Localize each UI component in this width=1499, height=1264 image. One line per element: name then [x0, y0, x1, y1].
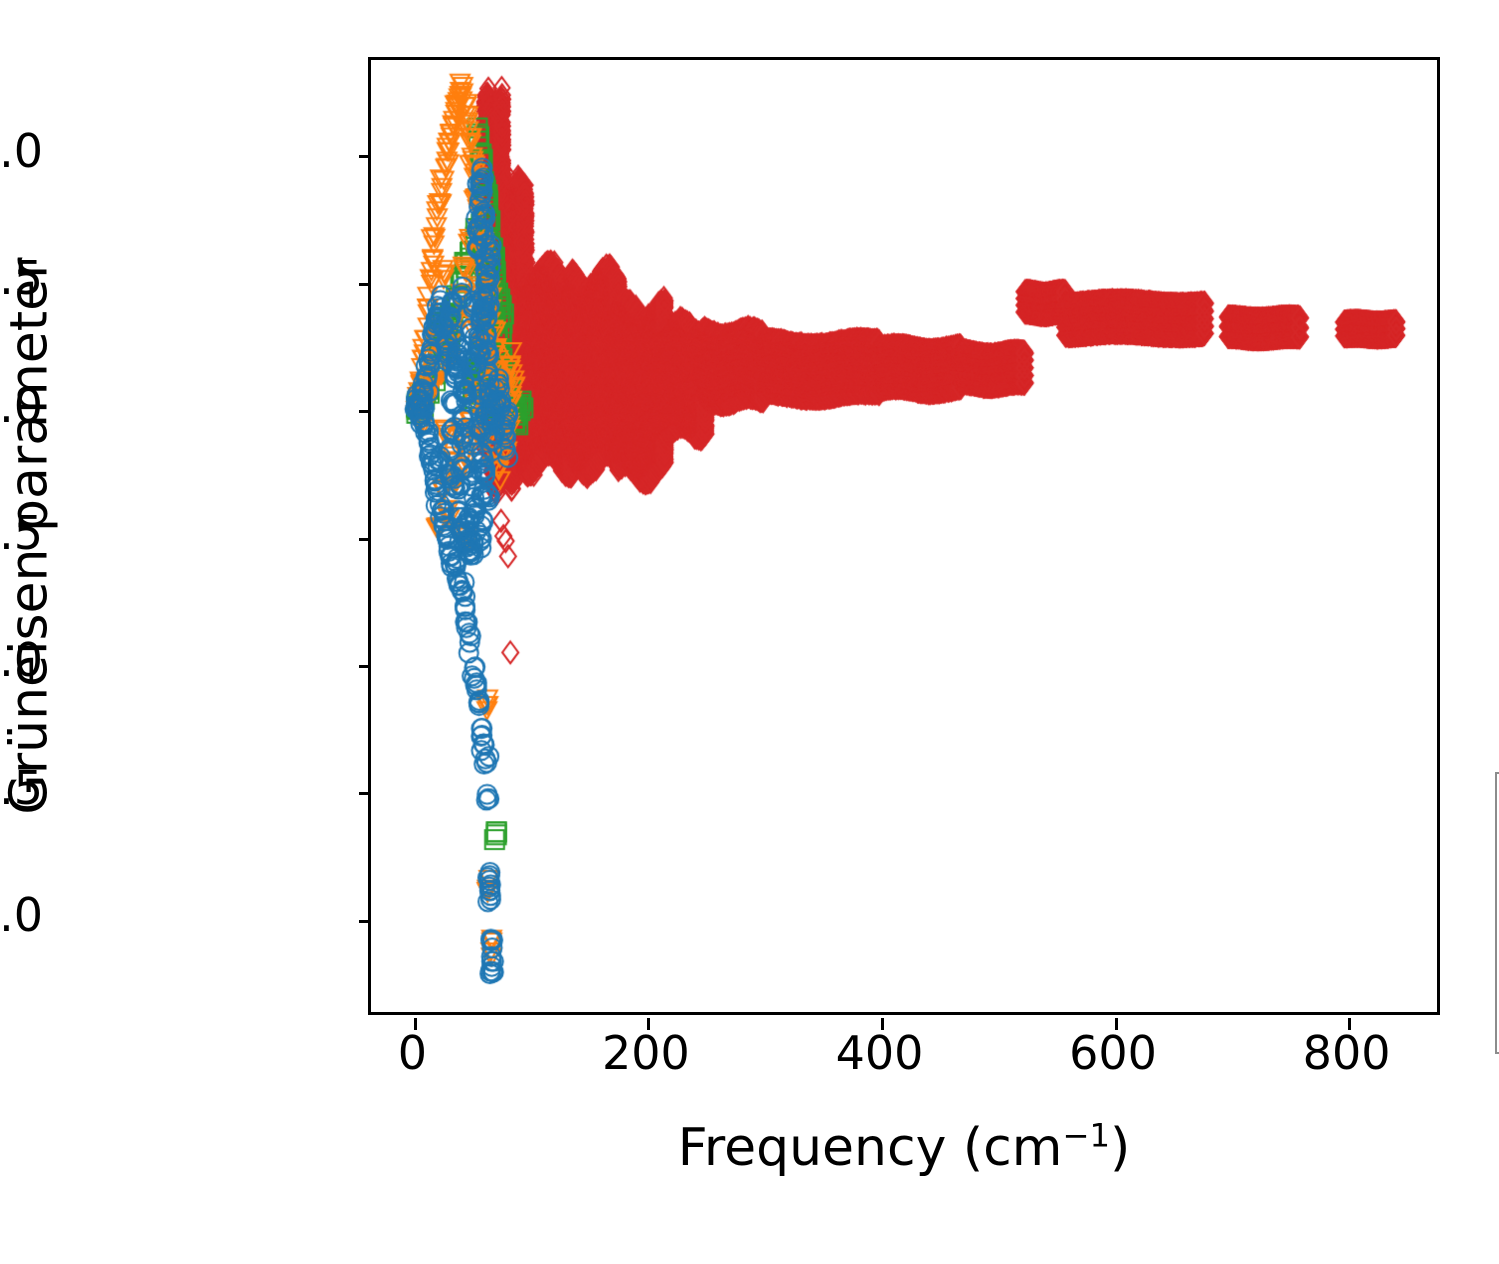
- y-tick-mark: [359, 283, 371, 286]
- x-axis-label-text: Frequency (cm: [678, 1118, 1063, 1178]
- plot-axes: TA(1) TA(2) LA Optical: [368, 57, 1440, 1015]
- y-tick-mark: [359, 538, 371, 541]
- y-tick-mark: [359, 155, 371, 158]
- x-tick-label: 400: [836, 1030, 924, 1076]
- y-axis-label: Grüneisen parameter: [1, 257, 58, 814]
- x-tick-mark: [881, 1018, 884, 1030]
- x-tick-label: 600: [1069, 1030, 1157, 1076]
- y-tick-label: 5.0: [0, 128, 43, 174]
- y-tick-mark: [359, 920, 371, 923]
- y-tick-label: −10.0: [0, 892, 43, 938]
- x-axis-label: Frequency (cm−1): [368, 1120, 1440, 1177]
- x-tick-label: 800: [1303, 1030, 1391, 1076]
- x-tick-label: 200: [602, 1030, 690, 1076]
- legend[interactable]: TA(1) TA(2) LA Optical: [1495, 772, 1499, 1054]
- x-axis-label-close: ): [1110, 1118, 1130, 1178]
- x-tick-mark: [1115, 1018, 1118, 1030]
- x-tick-mark: [647, 1018, 650, 1030]
- figure: 5.02.50.0−2.5−5.0−7.5−10.0 0200400600800…: [0, 0, 1499, 1264]
- x-tick-mark: [414, 1018, 417, 1030]
- x-tick-label: 0: [398, 1030, 427, 1076]
- y-tick-mark: [359, 665, 371, 668]
- x-axis-label-exponent: −1: [1062, 1117, 1110, 1155]
- y-tick-mark: [359, 792, 371, 795]
- scatter-plot-canvas: [371, 60, 1437, 1012]
- x-tick-mark: [1348, 1018, 1351, 1030]
- y-tick-mark: [359, 410, 371, 413]
